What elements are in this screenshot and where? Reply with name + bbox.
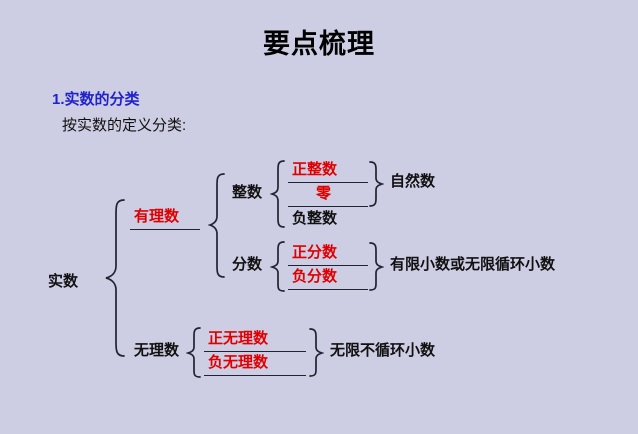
page-title: 要点梳理 [0,22,638,61]
section-subtitle: 按实数的定义分类: [62,114,186,135]
node-positive-irrational-numbers: 正无理数 [208,332,268,347]
node-fractions: 分数 [232,258,262,273]
slide-canvas: 要点梳理 1.实数的分类 按实数的定义分类: 实数 有理数 整数 正整数 零 负… [0,0,638,434]
node-real-numbers: 实数 [48,275,78,290]
brace-integers [270,159,286,231]
underline-positive-fractions [288,265,368,266]
node-negative-fractions: 负分数 [292,270,337,285]
underline-negative-fractions [288,289,368,290]
underline-negative-irrational-numbers [204,375,306,376]
brace-natural-numbers [368,160,384,208]
underline-positive-integers [288,182,368,183]
brace-fractions [270,240,286,294]
note-natural-numbers: 自然数 [390,175,435,190]
node-negative-irrational-numbers: 负无理数 [208,356,268,371]
underline-positive-irrational-numbers [204,351,306,352]
node-zero: 零 [316,187,331,202]
brace-irrational-note [308,327,324,379]
node-integers: 整数 [232,186,262,201]
brace-rational [208,172,226,280]
underline-zero [288,206,368,207]
brace-fraction-note [368,241,384,293]
node-irrational-numbers: 无理数 [134,344,179,359]
underline-rational-numbers [130,229,200,230]
brace-irrational [186,326,202,380]
node-positive-fractions: 正分数 [292,246,337,261]
node-rational-numbers: 有理数 [134,210,179,225]
section-heading: 1.实数的分类 [52,88,140,109]
node-positive-integers: 正整数 [292,163,337,178]
note-infinite-non-repeating-decimal: 无限不循环小数 [330,344,435,359]
node-negative-integers: 负整数 [292,212,337,227]
note-finite-or-repeating-decimal: 有限小数或无限循环小数 [390,258,555,273]
brace-root [104,198,126,358]
